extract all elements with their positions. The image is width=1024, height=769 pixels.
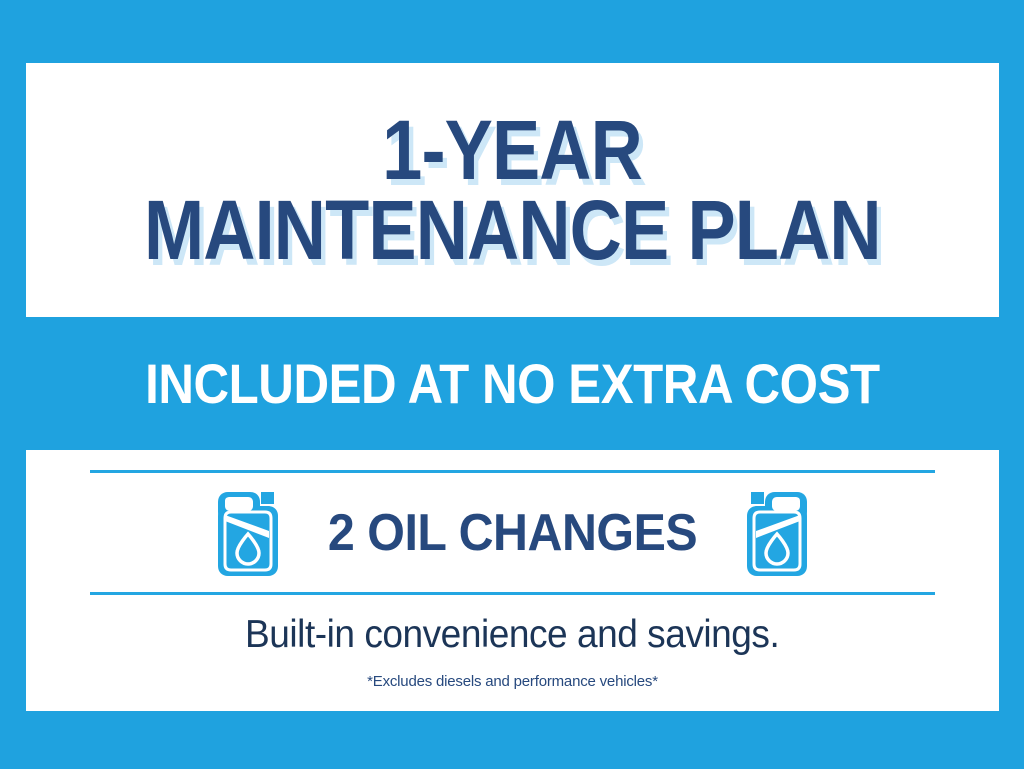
oil-jug-icon-right — [745, 490, 813, 576]
promo-poster: 1-YEAR MAINTENANCE PLAN INCLUDED AT NO E… — [0, 0, 1024, 769]
subtitle-band: INCLUDED AT NO EXTRA COST — [0, 317, 1024, 450]
divider-bottom — [90, 592, 935, 595]
offer-row: 2 OIL CHANGES — [90, 473, 935, 592]
fine-print-text: *Excludes diesels and performance vehicl… — [367, 673, 658, 690]
oil-jug-icon-left — [212, 490, 280, 576]
offer-text: 2 OIL CHANGES — [328, 503, 697, 563]
headline-line-1: 1-YEAR — [383, 111, 643, 189]
tagline-text: Built-in convenience and savings. — [245, 613, 779, 657]
detail-card: 2 OIL CHANGES Built-in convenience and s… — [26, 450, 999, 711]
headline-line-2: MAINTENANCE PLAN — [144, 191, 881, 269]
headline-card: 1-YEAR MAINTENANCE PLAN — [26, 63, 999, 317]
subtitle-text: INCLUDED AT NO EXTRA COST — [145, 351, 880, 416]
